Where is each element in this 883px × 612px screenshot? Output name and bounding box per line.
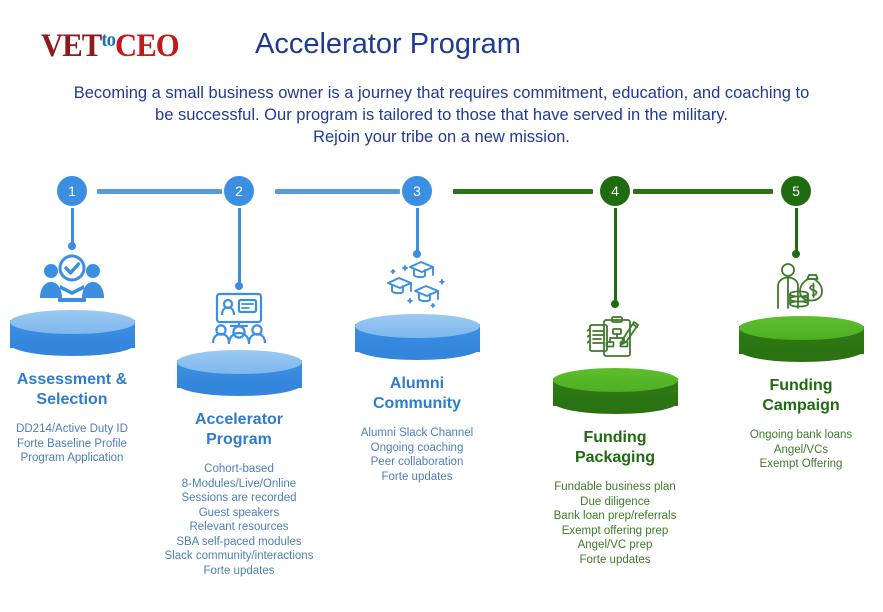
list-item: Slack community/interactions [144,549,334,564]
stage-funding-campaign[interactable]: Funding Campaign Ongoing bank loans Ange… [706,258,883,472]
list-item: Relevant resources [144,520,334,535]
stage-2-title: Accelerator Program [144,410,334,450]
list-item: Forte updates [520,553,710,568]
timeline-connector-4-5 [633,189,773,194]
list-item: Peer collaboration [322,455,512,470]
stage-3-title-line-1: Alumni [322,374,512,394]
list-item: Sessions are recorded [144,491,334,506]
stage-5-title-line-1: Funding [706,376,883,396]
stage-2-platform [177,350,302,396]
timeline-node-2[interactable]: 2 [224,176,254,206]
list-item: Fundable business plan [520,480,710,495]
list-item: Due diligence [520,495,710,510]
graduation-caps-toss-icon [385,258,449,308]
list-item: Forte updates [322,470,512,485]
timeline-stem-4 [614,208,617,304]
list-item: Ongoing coaching [322,441,512,456]
stage-3-title: Alumni Community [322,374,512,414]
list-item: Alumni Slack Channel [322,426,512,441]
list-item: Cohort-based [144,462,334,477]
stage-5-title: Funding Campaign [706,376,883,416]
list-item: Forte Baseline Profile [0,437,167,452]
list-item: Forte updates [144,564,334,579]
stage-4-title-line-1: Funding [520,428,710,448]
stage-2-items: Cohort-based 8-Modules/Live/Online Sessi… [144,462,334,578]
list-item: Guest speakers [144,506,334,521]
timeline-node-4[interactable]: 4 [600,176,630,206]
list-item: Ongoing bank loans [706,428,883,443]
online-class-monitor-people-icon [208,292,270,344]
stage-assessment-selection[interactable]: Assessment & Selection DD214/Active Duty… [0,252,167,466]
stage-4-icon-slot [520,310,710,362]
list-item: DD214/Active Duty ID [0,422,167,437]
timeline-connector-3-4 [453,189,593,194]
clipboard-document-pen-icon [587,316,643,362]
stage-2-title-line-2: Program [144,430,334,450]
timeline-connector-1-2 [97,189,222,194]
stage-1-icon-slot [0,252,167,304]
list-item: Angel/VC prep [520,538,710,553]
stage-3-icon-slot [322,256,512,308]
stage-funding-packaging[interactable]: Funding Packaging Fundable business plan… [520,310,710,567]
timeline-stem-2 [238,208,241,286]
stage-5-title-line-2: Campaign [706,396,883,416]
timeline-stem-3 [416,208,419,254]
stage-4-title-line-2: Packaging [520,448,710,468]
stage-4-items: Fundable business plan Due diligence Ban… [520,480,710,567]
stage-5-icon-slot [706,258,883,310]
timeline-connector-2-3 [275,189,400,194]
timeline-stem-5 [795,208,798,254]
list-item: SBA self-paced modules [144,535,334,550]
timeline-node-5[interactable]: 5 [781,176,811,206]
person-money-bag-coins-icon [772,262,830,310]
stage-1-items: DD214/Active Duty ID Forte Baseline Prof… [0,422,167,466]
stage-accelerator-program[interactable]: Accelerator Program Cohort-based 8-Modul… [144,292,334,578]
timeline-stem-1 [71,208,74,246]
list-item: Program Application [0,451,167,466]
timeline-node-1[interactable]: 1 [57,176,87,206]
stage-3-title-line-2: Community [322,394,512,414]
list-item: 8-Modules/Live/Online [144,477,334,492]
stage-1-title: Assessment & Selection [0,370,167,410]
stage-4-title: Funding Packaging [520,428,710,468]
stage-2-title-line-1: Accelerator [144,410,334,430]
stage-2-icon-slot [144,292,334,344]
list-item: Angel/VCs [706,443,883,458]
people-agreement-check-icon [38,254,106,304]
stage-5-items: Ongoing bank loans Angel/VCs Exempt Offe… [706,428,883,472]
stage-1-title-line-2: Selection [0,390,167,410]
list-item: Bank loan prep/referrals [520,509,710,524]
stage-1-platform [10,310,135,356]
stage-1-title-line-1: Assessment & [0,370,167,390]
list-item: Exempt offering prep [520,524,710,539]
stage-3-items: Alumni Slack Channel Ongoing coaching Pe… [322,426,512,484]
stage-3-platform [355,314,480,360]
timeline-node-3[interactable]: 3 [402,176,432,206]
list-item: Exempt Offering [706,457,883,472]
stage-4-platform [553,368,678,414]
stage-alumni-community[interactable]: Alumni Community Alumni Slack Channel On… [322,256,512,484]
stage-5-platform [739,316,864,362]
